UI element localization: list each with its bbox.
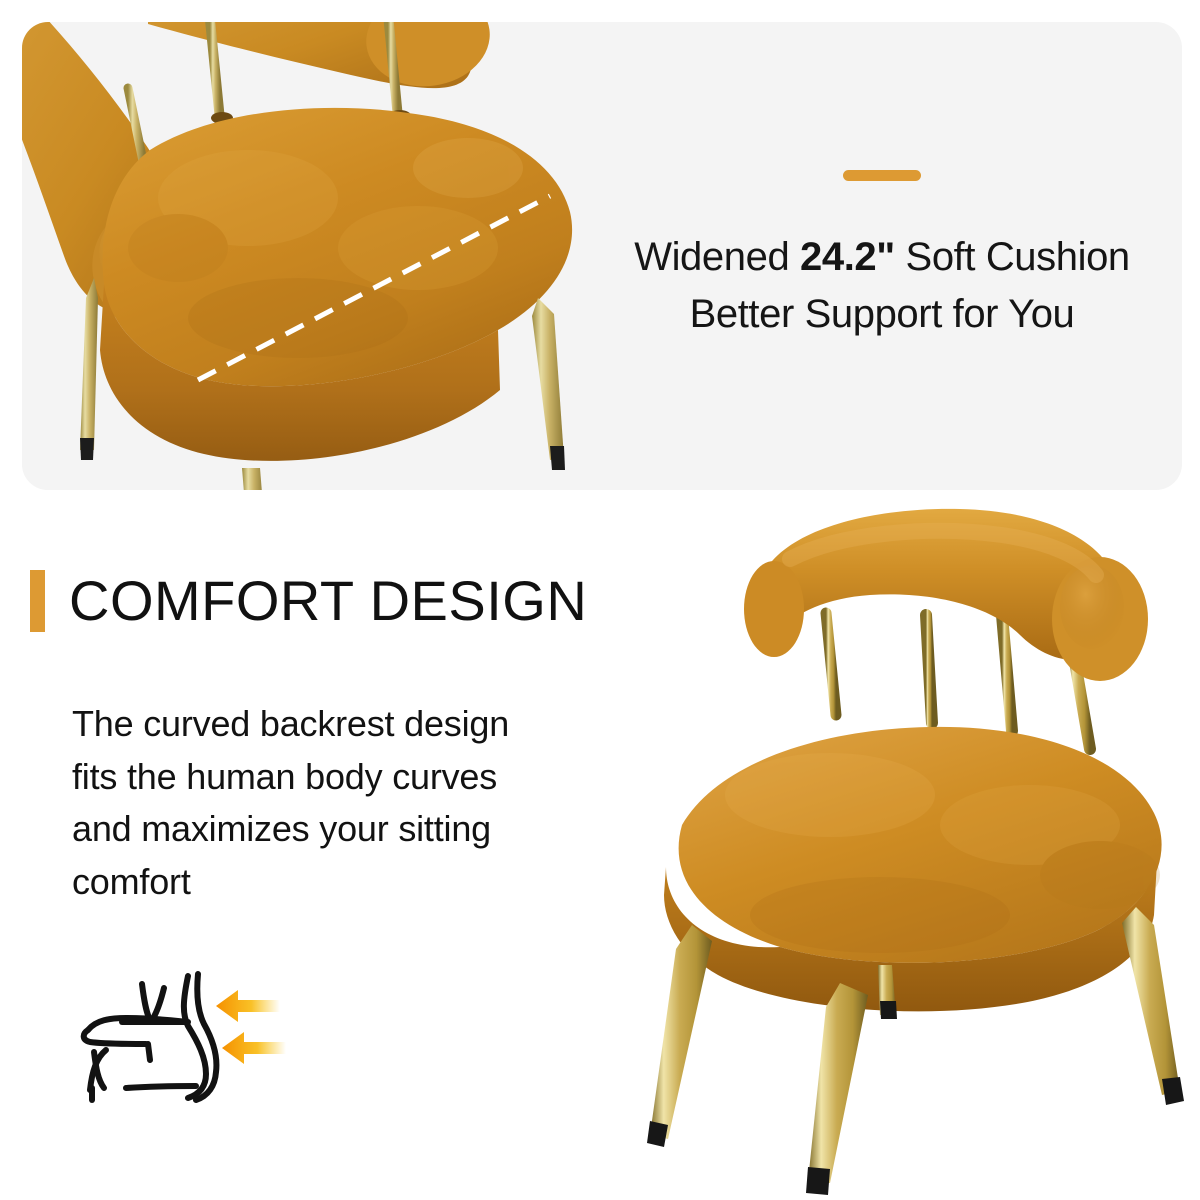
top-headline-line-2: Better Support for You [690, 286, 1075, 343]
top-copy-block: Widened 24.2" Soft Cushion Better Suppor… [582, 22, 1182, 490]
headline-suffix: Soft Cushion [895, 235, 1130, 279]
accent-chair-photo [630, 495, 1200, 1200]
heading-accent-bar [30, 570, 45, 632]
top-feature-panel: Widened 24.2" Soft Cushion Better Suppor… [22, 22, 1182, 490]
seat-cushion-photo [22, 22, 618, 490]
top-headline-line-1: Widened 24.2" Soft Cushion [634, 229, 1130, 286]
accent-dash [843, 170, 921, 181]
page-title: COMFORT DESIGN [69, 568, 587, 633]
headline-measurement: 24.2" [800, 235, 895, 279]
body-line: The curved backrest design [72, 698, 672, 751]
headline-prefix: Widened [634, 235, 800, 279]
pressure-arrows [216, 990, 286, 1064]
body-paragraph: The curved backrest design fits the huma… [72, 698, 672, 908]
product-feature-graphic: Widened 24.2" Soft Cushion Better Suppor… [0, 0, 1200, 1200]
bottom-copy-block: COMFORT DESIGN The curved backrest desig… [0, 510, 680, 1200]
seated-posture-support-icon [70, 960, 300, 1110]
comfort-design-heading-row: COMFORT DESIGN [30, 568, 587, 633]
body-line: and maximizes your sitting [72, 803, 672, 856]
body-line: fits the human body curves [72, 751, 672, 804]
body-line: comfort [72, 856, 672, 909]
